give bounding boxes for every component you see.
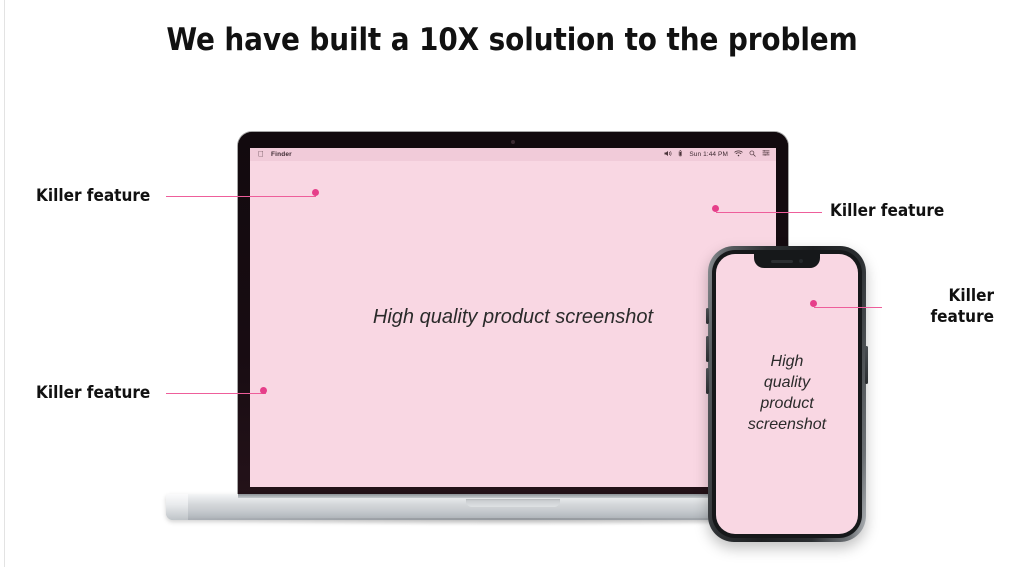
callout-connector-bottom-left xyxy=(166,393,266,394)
phone-volume-down-button[interactable] xyxy=(706,368,709,394)
laptop-hinge xyxy=(238,494,788,498)
slide-left-border xyxy=(4,0,5,567)
page-title: We have built a 10X solution to the prob… xyxy=(0,22,1024,58)
callout-connector-middle-right xyxy=(814,307,882,308)
laptop-screenshot-placeholder-text: High quality product screenshot xyxy=(250,148,776,487)
laptop-base-notch xyxy=(466,499,560,507)
callout-dot-top-right xyxy=(712,205,719,212)
phone-silent-switch[interactable] xyxy=(706,308,709,324)
callout-label-top-right: Killer feature xyxy=(830,201,944,222)
laptop-base-edge xyxy=(166,494,188,520)
callout-label-line-1: Killerfeature xyxy=(931,286,994,327)
callout-dot-top-left xyxy=(312,189,319,196)
phone-caption-line: product xyxy=(760,394,813,415)
phone-caption-line: screenshot xyxy=(748,415,826,436)
phone-caption-line: quality xyxy=(764,373,810,394)
slide-canvas: We have built a 10X solution to the prob… xyxy=(0,0,1024,567)
callout-connector-top-left xyxy=(166,196,316,197)
laptop-screen:  Finder xyxy=(250,148,776,487)
webcam-icon xyxy=(511,140,515,144)
callout-dot-middle-right xyxy=(810,300,817,307)
phone-power-button[interactable] xyxy=(865,346,868,384)
callout-label-bottom-left: Killer feature xyxy=(36,383,150,404)
phone-volume-up-button[interactable] xyxy=(706,336,709,362)
callout-label-top-left: Killer feature xyxy=(36,186,150,207)
phone-caption-line: High xyxy=(771,352,804,373)
callout-dot-bottom-left xyxy=(260,387,267,394)
callout-connector-top-right xyxy=(716,212,822,213)
